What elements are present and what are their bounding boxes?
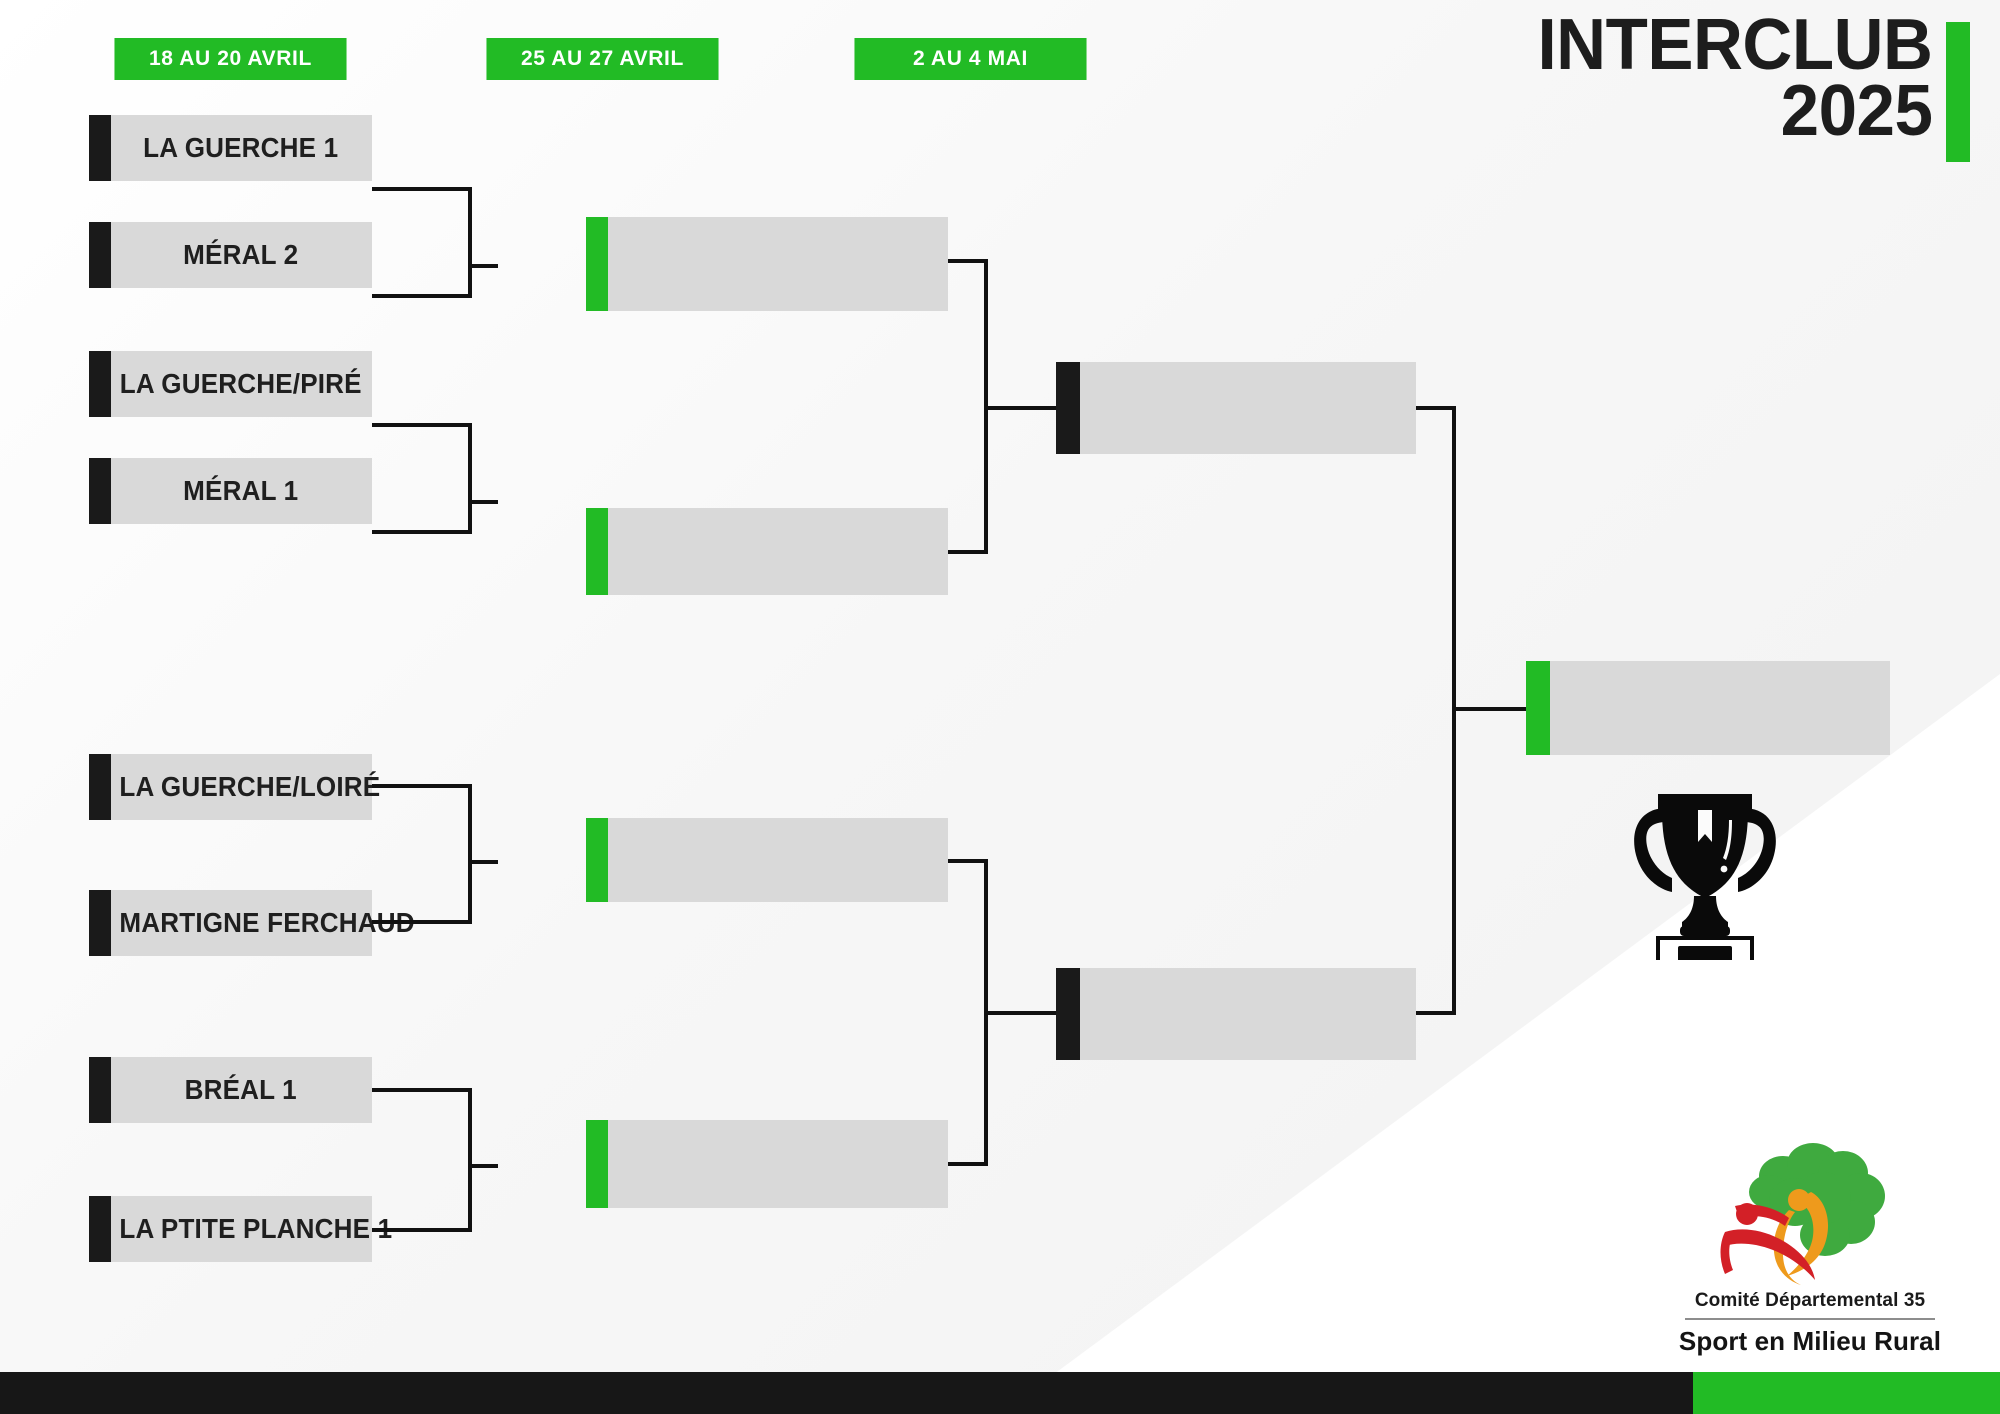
accent-bar bbox=[1056, 362, 1080, 454]
match-box-r1-5[interactable]: LA GUERCHE/LOIRÉ bbox=[89, 754, 372, 820]
connector-h bbox=[372, 530, 472, 534]
match-box-r1-1[interactable]: LA GUERCHE 1 bbox=[89, 115, 372, 181]
match-box-r2-1[interactable] bbox=[586, 217, 948, 311]
logo-mark-icon bbox=[1695, 1140, 1925, 1290]
title-green-bar bbox=[1946, 22, 1970, 162]
team-name: MÉRAL 1 bbox=[99, 475, 362, 507]
title-line-2: 2025 bbox=[1537, 78, 1932, 144]
poster-title: INTERCLUB 2025 bbox=[1521, 12, 1970, 162]
match-box-r2-3[interactable] bbox=[586, 818, 948, 902]
logo-divider bbox=[1685, 1318, 1935, 1320]
connector-h bbox=[468, 500, 498, 504]
match-box-final[interactable] bbox=[1526, 661, 1890, 755]
connector-h bbox=[372, 294, 472, 298]
team-name: LA PTITE PLANCHE 1 bbox=[99, 1213, 362, 1245]
connector-v bbox=[468, 423, 472, 534]
connector-h bbox=[1416, 1011, 1456, 1015]
match-box-r2-4[interactable] bbox=[586, 1120, 948, 1208]
connector-h bbox=[372, 1088, 472, 1092]
team-name: MÉRAL 2 bbox=[99, 239, 362, 271]
match-box-r2-2[interactable] bbox=[586, 508, 948, 595]
match-box-r1-4[interactable]: MÉRAL 1 bbox=[89, 458, 372, 524]
match-box-r1-2[interactable]: MÉRAL 2 bbox=[89, 222, 372, 288]
team-name: BRÉAL 1 bbox=[99, 1074, 362, 1106]
connector-h bbox=[984, 406, 1056, 410]
connector-h bbox=[948, 259, 988, 263]
round-header-1: 18 AU 20 AVRIL bbox=[114, 38, 346, 80]
bracket-poster: 18 AU 20 AVRIL 25 AU 27 AVRIL 2 AU 4 MAI… bbox=[0, 0, 2000, 1414]
logo-line-1: Comité Départemental 35 bbox=[1650, 1290, 1970, 1316]
connector-h bbox=[948, 1162, 988, 1166]
accent-bar bbox=[1056, 968, 1080, 1060]
round-header-2: 25 AU 27 AVRIL bbox=[486, 38, 718, 80]
team-name: LA GUERCHE 1 bbox=[99, 132, 362, 164]
match-box-r1-6[interactable]: MARTIGNE FERCHAUD bbox=[89, 890, 372, 956]
accent-bar bbox=[586, 818, 608, 902]
connector-h bbox=[468, 860, 498, 864]
connector-h bbox=[1416, 406, 1456, 410]
connector-h bbox=[372, 423, 472, 427]
round-header-2-label: 25 AU 27 AVRIL bbox=[521, 47, 684, 71]
accent-bar bbox=[1526, 661, 1550, 755]
connector-h bbox=[948, 859, 988, 863]
title-line-1: INTERCLUB bbox=[1537, 12, 1932, 78]
connector-h bbox=[468, 1164, 498, 1168]
connector-h bbox=[372, 1228, 472, 1232]
logo-line-2: Sport en Milieu Rural bbox=[1650, 1326, 1970, 1357]
connector-v bbox=[468, 187, 472, 298]
team-name: LA GUERCHE/PIRÉ bbox=[99, 368, 362, 400]
round-header-3-label: 2 AU 4 MAI bbox=[913, 47, 1028, 71]
footer-bar-dark bbox=[0, 1372, 1693, 1414]
accent-bar bbox=[586, 508, 608, 595]
match-box-r1-3[interactable]: LA GUERCHE/PIRÉ bbox=[89, 351, 372, 417]
accent-bar bbox=[586, 1120, 608, 1208]
connector-v bbox=[468, 784, 472, 924]
connector-h bbox=[948, 550, 988, 554]
match-box-semi-1[interactable] bbox=[1056, 362, 1416, 454]
footer-bar-green bbox=[1693, 1372, 2000, 1414]
round-header-1-label: 18 AU 20 AVRIL bbox=[149, 47, 312, 71]
connector-h bbox=[468, 264, 498, 268]
organization-logo: Comité Départemental 35 Sport en Milieu … bbox=[1650, 1140, 1970, 1357]
round-header-3: 2 AU 4 MAI bbox=[854, 38, 1086, 80]
team-name: MARTIGNE FERCHAUD bbox=[99, 907, 362, 939]
trophy-icon bbox=[1620, 780, 1790, 960]
accent-bar bbox=[586, 217, 608, 311]
match-box-semi-2[interactable] bbox=[1056, 968, 1416, 1060]
connector-h bbox=[372, 920, 472, 924]
connector-h bbox=[372, 784, 472, 788]
team-name: LA GUERCHE/LOIRÉ bbox=[99, 771, 362, 803]
match-box-r1-8[interactable]: LA PTITE PLANCHE 1 bbox=[89, 1196, 372, 1262]
connector-h bbox=[372, 187, 472, 191]
connector-h bbox=[1452, 707, 1527, 711]
connector-h bbox=[984, 1011, 1056, 1015]
match-box-r1-7[interactable]: BRÉAL 1 bbox=[89, 1057, 372, 1123]
connector-v bbox=[468, 1088, 472, 1232]
